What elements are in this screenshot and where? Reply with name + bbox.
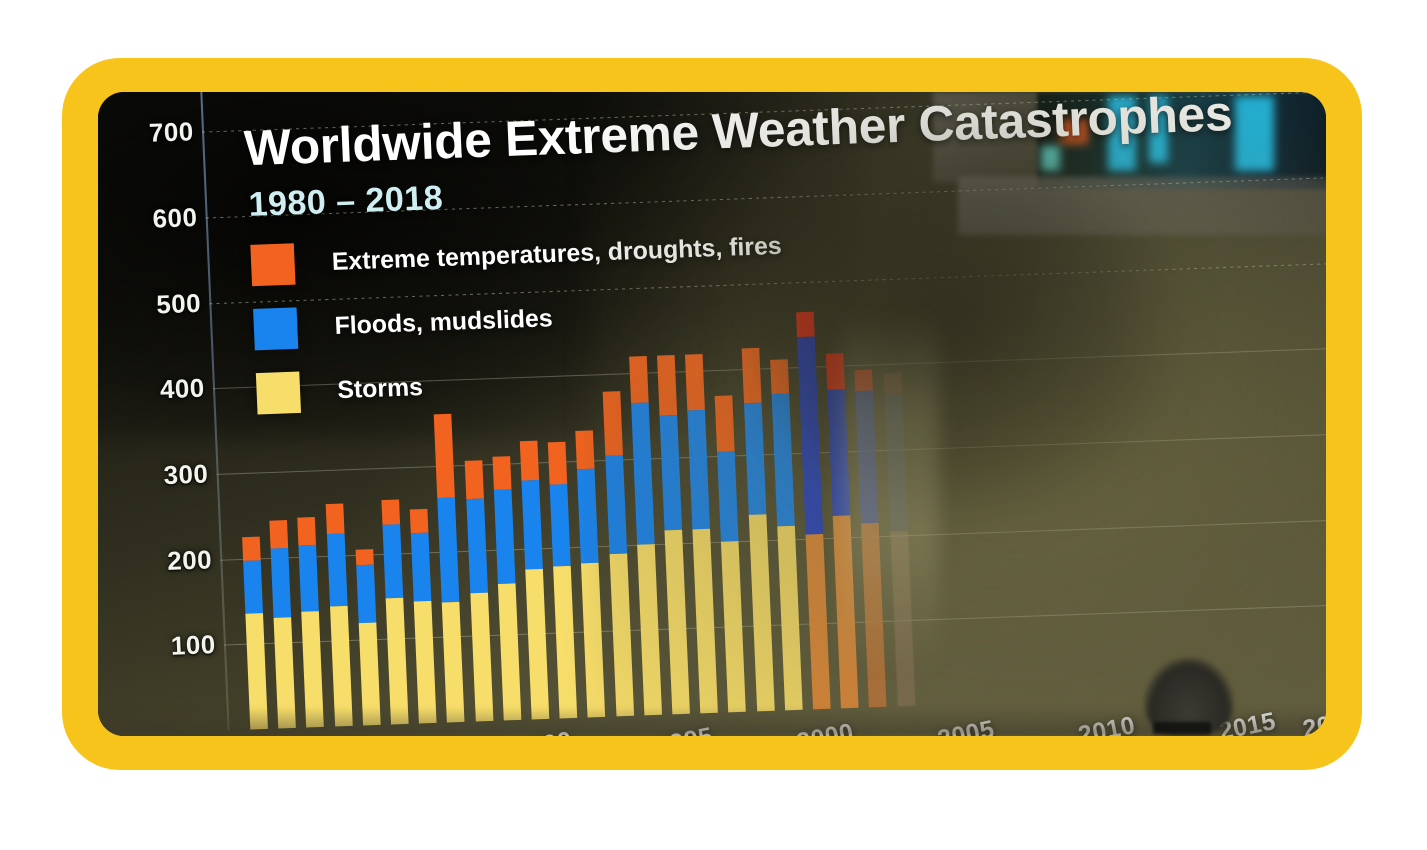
y-tick-500: 500	[98, 303, 201, 307]
bar-segment-extreme	[325, 504, 344, 535]
bar-segment-storms	[470, 593, 493, 722]
bar-segment-extreme	[381, 499, 400, 525]
bar-segment-extreme	[826, 353, 845, 390]
bar-segment-extreme	[576, 430, 595, 469]
bar-segment-extreme	[883, 372, 901, 394]
bar-segment-floods	[828, 389, 851, 516]
bar-segment-extreme	[796, 311, 815, 337]
presentation-photo: 700600500400300200100 Number of events W…	[98, 92, 1326, 736]
y-tick-400: 400	[98, 389, 205, 393]
bar-segment-floods	[797, 337, 823, 534]
bar-segment-floods	[744, 403, 766, 515]
bar-1983	[325, 504, 352, 727]
bar-1980	[242, 537, 268, 730]
y-tick-200: 200	[104, 560, 212, 564]
bar-segment-floods	[271, 548, 292, 617]
y-tick-label: 400	[109, 374, 205, 407]
bar-segment-floods	[438, 498, 460, 603]
y-tick-label: 700	[98, 118, 194, 151]
bar-1989	[492, 457, 521, 721]
y-tick-100: 100	[108, 645, 216, 649]
bar-segment-extreme	[770, 359, 789, 394]
bar-segment-floods	[383, 525, 404, 598]
bar-segment-storms	[498, 583, 521, 720]
bar-1981	[270, 520, 296, 728]
bar-segment-floods	[243, 561, 263, 615]
bar-segment-extreme	[355, 549, 373, 565]
chart-plane: 700600500400300200100 Number of events W…	[98, 92, 1326, 736]
bar-segment-floods	[327, 534, 348, 607]
bar-segment-extreme	[242, 537, 261, 562]
bar-segment-floods	[521, 479, 542, 569]
bar-segment-storms	[386, 597, 409, 724]
bar-segment-storms	[861, 523, 886, 707]
bar-segment-storms	[748, 514, 774, 711]
bar-segment-storms	[414, 601, 437, 724]
bar-1985	[381, 499, 408, 724]
bar-1999	[770, 359, 803, 710]
bar-segment-floods	[494, 489, 516, 584]
bar-segment-floods	[660, 415, 683, 531]
bar-segment-extreme	[685, 354, 705, 410]
bar-segment-storms	[525, 569, 549, 719]
bar-segment-floods	[688, 409, 711, 529]
bar-2000	[796, 311, 831, 709]
screenshot-root: 700600500400300200100 Number of events W…	[0, 0, 1427, 850]
bar-1998	[741, 347, 774, 711]
bar-segment-storms	[609, 553, 634, 716]
bar-segment-extreme	[492, 457, 511, 490]
bar-2001	[826, 353, 859, 708]
bar-1990	[520, 441, 549, 719]
bar-1984	[355, 549, 380, 726]
bar-1997	[715, 396, 746, 713]
bar-1994	[629, 356, 662, 716]
bar-segment-storms	[806, 534, 831, 710]
bar-segment-extreme	[741, 348, 761, 404]
bar-segment-storms	[581, 563, 605, 717]
bar-segment-storms	[665, 530, 690, 714]
y-tick-label: 500	[105, 289, 201, 322]
bar-segment-extreme	[602, 391, 622, 456]
bar-segment-storms	[777, 526, 802, 710]
bar-segment-floods	[550, 484, 571, 566]
bar-segment-extreme	[520, 441, 539, 480]
bar-segment-extreme	[410, 508, 429, 533]
bar-segment-extreme	[298, 517, 317, 545]
bar-segment-floods	[605, 455, 627, 554]
bar-1982	[298, 517, 325, 727]
bar-1987	[434, 414, 465, 722]
bar-segment-storms	[442, 602, 465, 722]
bar-segment-extreme	[657, 355, 677, 415]
bar-segment-floods	[356, 564, 376, 623]
bar-segment-extreme	[629, 356, 649, 404]
bar-1993	[602, 391, 633, 716]
bar-segment-storms	[637, 544, 662, 716]
bar-segment-storms	[553, 566, 577, 719]
y-tick-label: 300	[113, 460, 209, 493]
bar-segment-extreme	[855, 369, 873, 391]
y-tick-label: 200	[116, 545, 212, 578]
y-tick-600: 600	[98, 218, 197, 222]
bar-1986	[410, 508, 437, 723]
bar-1996	[685, 354, 718, 714]
bar-segment-extreme	[270, 520, 289, 549]
bar-segment-storms	[721, 541, 746, 713]
bar-segment-extreme	[548, 442, 567, 485]
y-tick-300: 300	[101, 474, 209, 478]
bar-1995	[657, 355, 690, 715]
bar-segment-floods	[411, 532, 432, 601]
photo-floor-band	[98, 707, 1326, 736]
bar-segment-storms	[693, 529, 718, 713]
bar-segment-floods	[631, 403, 655, 545]
bar-segment-floods	[577, 469, 599, 564]
bar-segment-floods	[856, 390, 879, 523]
bar-segment-extreme	[434, 414, 455, 498]
bar-2003	[883, 372, 915, 706]
bar-1988	[464, 460, 493, 721]
bar-segment-extreme	[464, 460, 483, 499]
y-tick-700: 700	[98, 132, 194, 136]
bar-1992	[576, 430, 606, 717]
device-edge	[1153, 722, 1211, 734]
bar-segment-floods	[466, 499, 488, 594]
bar-2002	[855, 369, 887, 707]
bar-segment-floods	[884, 394, 907, 531]
bar-1991	[548, 442, 577, 719]
bar-segment-floods	[771, 394, 794, 527]
bar-segment-extreme	[715, 396, 735, 452]
bar-segment-storms	[833, 515, 859, 708]
bar-segment-floods	[299, 545, 319, 612]
yellow-photo-frame: 700600500400300200100 Number of events W…	[62, 58, 1362, 770]
bar-series-group	[200, 92, 1326, 730]
bar-segment-storms	[890, 531, 915, 707]
y-tick-label: 100	[120, 631, 216, 664]
bar-segment-floods	[717, 451, 738, 541]
y-tick-label: 600	[102, 203, 198, 236]
